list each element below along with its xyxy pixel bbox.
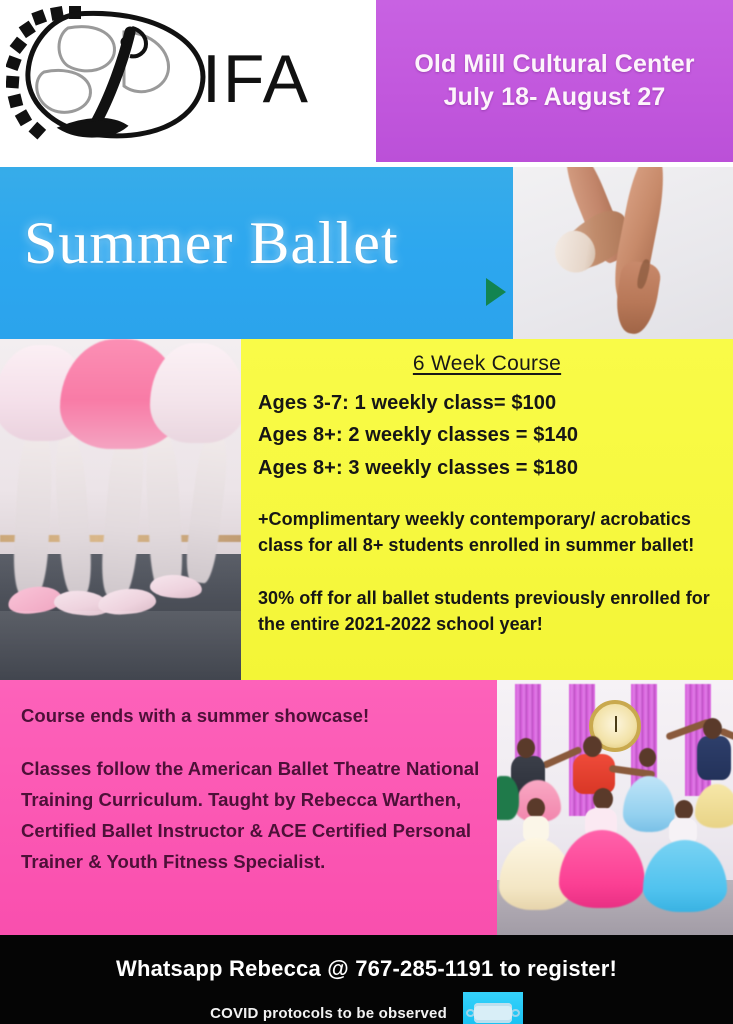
details-row: 6 Week Course Ages 3-7: 1 weekly class= … <box>0 339 733 680</box>
header-row: IFA Old Mill Cultural Center July 18- Au… <box>0 0 733 167</box>
price-item: Ages 8+: 3 weekly classes = $180 <box>258 452 733 484</box>
ballet-class-photo <box>0 339 241 680</box>
bonus-class-note: +Complimentary weekly contemporary/ acro… <box>241 506 733 559</box>
curriculum-note: Classes follow the American Ballet Theat… <box>21 753 483 877</box>
student-skirt <box>150 343 241 443</box>
face-mask-icon <box>463 992 523 1024</box>
floor-reflection <box>0 611 241 680</box>
showcase-note: Course ends with a summer showcase! <box>0 680 497 729</box>
pointe-shoes-photo <box>513 167 733 339</box>
dancer-head <box>675 800 693 820</box>
dancer-head <box>593 788 613 810</box>
footer: Whatsapp Rebecca @ 767-285-1191 to regis… <box>0 935 733 1024</box>
price-item: Ages 3-7: 1 weekly class= $100 <box>258 387 733 419</box>
covid-note: COVID protocols to be observed <box>210 1005 447 1022</box>
venue-panel: Old Mill Cultural Center July 18- August… <box>376 0 733 162</box>
dancer-head <box>639 748 656 767</box>
course-heading: 6 Week Course <box>241 352 733 376</box>
stage-prop <box>497 776 519 820</box>
register-line: Whatsapp Rebecca @ 767-285-1191 to regis… <box>0 935 733 982</box>
dancer-head <box>517 738 535 758</box>
difa-logo-icon: IFA <box>6 6 366 156</box>
info-row: Course ends with a summer showcase! Clas… <box>0 680 733 935</box>
dancer-head <box>583 736 602 757</box>
venue-dates: July 18- August 27 <box>444 81 666 114</box>
covid-row: COVID protocols to be observed <box>0 982 733 1024</box>
info-panel: Course ends with a summer showcase! Clas… <box>0 680 497 935</box>
venue-location: Old Mill Cultural Center <box>414 48 694 81</box>
mask-body <box>474 1003 512 1023</box>
green-arrow-icon <box>486 278 506 306</box>
mask-strap-right <box>511 1009 520 1017</box>
price-item: Ages 8+: 2 weekly classes = $140 <box>258 419 733 451</box>
dancer-head <box>703 718 722 739</box>
logo-panel: IFA <box>0 0 376 162</box>
banner-blue-block: Summer Ballet <box>0 167 513 339</box>
logo-wordmark: IFA <box>202 41 310 117</box>
dancer-torso <box>697 736 731 780</box>
banner-row: Summer Ballet <box>0 167 733 339</box>
dancer-head <box>527 798 545 818</box>
curriculum-block: Classes follow the American Ballet Theat… <box>0 729 497 877</box>
discount-note: 30% off for all ballet students previous… <box>241 585 733 638</box>
flyer-page: IFA Old Mill Cultural Center July 18- Au… <box>0 0 733 1024</box>
difa-logo: IFA <box>6 6 366 156</box>
price-list: Ages 3-7: 1 weekly class= $100 Ages 8+: … <box>241 387 733 484</box>
pricing-panel: 6 Week Course Ages 3-7: 1 weekly class= … <box>241 339 733 680</box>
showcase-photo <box>497 680 733 935</box>
dancer-torso <box>573 754 615 794</box>
banner-title: Summer Ballet <box>24 213 399 273</box>
